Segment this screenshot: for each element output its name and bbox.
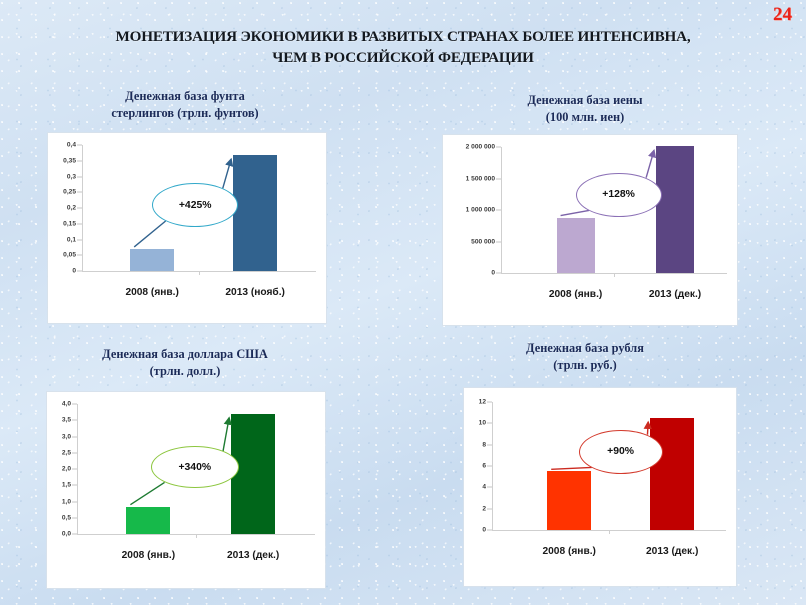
chart-title-ruble-line-2: (трлн. руб.) — [420, 357, 750, 374]
chart-block-dollar: Денежная база доллара США (трлн. долл.) … — [20, 346, 350, 588]
growth-arrow-dollar — [47, 392, 325, 588]
chart-title-yen: Денежная база иены (100 млн. иен) — [420, 92, 750, 126]
chart-panel-ruble: 1210864202008 (янв.)2013 (дек.)+90% — [464, 388, 736, 586]
chart-title-pound-line-1: Денежная база фунта — [20, 88, 350, 105]
slide-title: МОНЕТИЗАЦИЯ ЭКОНОМИКИ В РАЗВИТЫХ СТРАНАХ… — [36, 26, 770, 68]
growth-arrow-pound — [48, 133, 326, 323]
growth-arrow-yen — [443, 135, 737, 325]
chart-title-pound: Денежная база фунта стерлингов (трлн. фу… — [20, 88, 350, 122]
slide-title-line-1: МОНЕТИЗАЦИЯ ЭКОНОМИКИ В РАЗВИТЫХ СТРАНАХ… — [36, 26, 770, 47]
slide-canvas: 24 МОНЕТИЗАЦИЯ ЭКОНОМИКИ В РАЗВИТЫХ СТРА… — [0, 0, 806, 605]
slide-title-line-2: ЧЕМ В РОССИЙСКОЙ ФЕДЕРАЦИИ — [36, 47, 770, 68]
page-number: 24 — [773, 4, 792, 26]
chart-title-dollar-line-1: Денежная база доллара США — [20, 346, 350, 363]
growth-callout-dollar: +340% — [151, 446, 239, 488]
chart-title-yen-line-2: (100 млн. иен) — [420, 109, 750, 126]
chart-panel-pound: 0,40,350,30,250,20,150,10,0502008 (янв.)… — [48, 133, 326, 323]
growth-callout-pound: +425% — [152, 183, 238, 227]
growth-callout-ruble: +90% — [579, 430, 663, 474]
growth-callout-yen: +128% — [576, 173, 662, 217]
chart-panel-dollar: 4,03,53,02,52,01,51,00,50,02008 (янв.)20… — [47, 392, 325, 588]
chart-title-pound-line-2: стерлингов (трлн. фунтов) — [20, 105, 350, 122]
chart-title-dollar-line-2: (трлн. долл.) — [20, 363, 350, 380]
chart-panel-yen: 2 000 0001 500 0001 000 000500 00002008 … — [443, 135, 737, 325]
chart-title-yen-line-1: Денежная база иены — [420, 92, 750, 109]
chart-title-ruble: Денежная база рубля (трлн. руб.) — [420, 340, 750, 374]
chart-block-pound: Денежная база фунта стерлингов (трлн. фу… — [20, 88, 350, 323]
chart-title-ruble-line-1: Денежная база рубля — [420, 340, 750, 357]
chart-block-ruble: Денежная база рубля (трлн. руб.) 1210864… — [420, 340, 750, 586]
chart-title-dollar: Денежная база доллара США (трлн. долл.) — [20, 346, 350, 380]
growth-arrow-ruble — [464, 388, 736, 586]
chart-block-yen: Денежная база иены (100 млн. иен) 2 000 … — [420, 92, 750, 325]
